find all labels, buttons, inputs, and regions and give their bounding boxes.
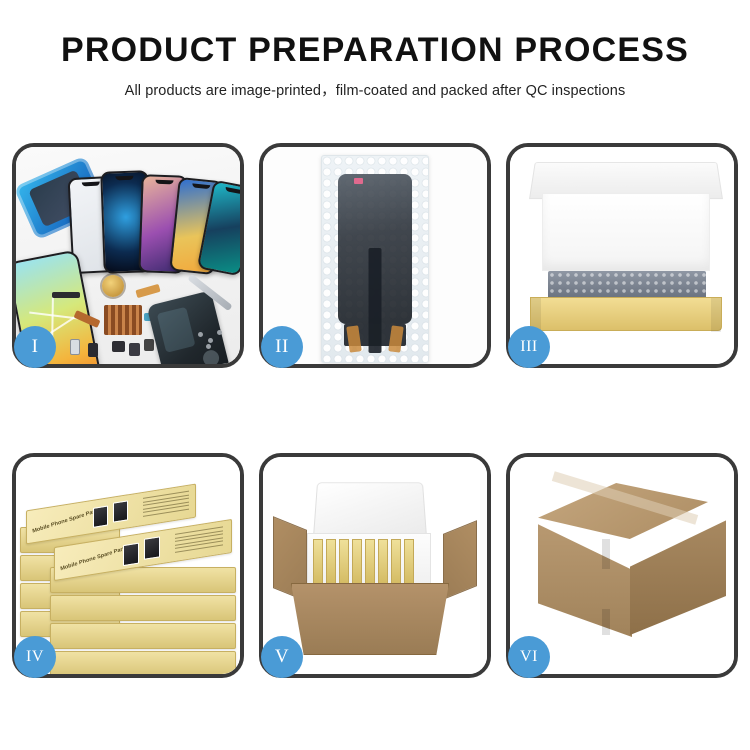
yellow-box xyxy=(391,539,401,585)
copper-coil-part xyxy=(102,275,124,297)
stacked-box xyxy=(50,651,236,674)
step-badge-3: III xyxy=(508,326,550,368)
yellow-box xyxy=(378,539,388,585)
adhesive-tab xyxy=(388,325,404,352)
bubble-wrap-bag xyxy=(321,155,429,363)
product-thumbnail xyxy=(93,505,108,527)
yellow-box xyxy=(326,539,336,585)
small-component-part xyxy=(88,343,98,357)
box-label-text: Mobile Phone Spare Parts xyxy=(32,508,100,535)
step-badge-1: I xyxy=(14,326,56,368)
yellow-box xyxy=(404,539,414,585)
stacked-box xyxy=(50,595,236,621)
yellow-box xyxy=(352,539,362,585)
header: PRODUCT PREPARATION PROCESS All products… xyxy=(0,0,750,100)
product-thumbnail xyxy=(144,536,160,560)
process-steps-grid: I II xyxy=(12,143,738,678)
qc-sticker xyxy=(354,178,363,184)
small-component-part xyxy=(144,339,154,351)
small-component-part xyxy=(129,343,140,356)
product-thumbnail xyxy=(123,543,139,567)
box-spec-lines xyxy=(175,526,223,555)
step-panel-5: V xyxy=(259,453,491,678)
page-subtitle: All products are image-printed，film-coat… xyxy=(0,79,750,100)
carton-front-panel xyxy=(291,583,449,655)
notch-icon xyxy=(155,180,173,185)
phone-screen-fan xyxy=(68,163,240,273)
yellow-boxes-row xyxy=(313,539,425,585)
screws-group xyxy=(198,330,224,348)
box-label-text: Mobile Phone Spare Parts xyxy=(60,545,128,572)
notch-icon xyxy=(225,187,240,194)
step-panel-3: III xyxy=(506,143,738,368)
page-title: PRODUCT PREPARATION PROCESS xyxy=(0,33,750,69)
foam-box-lid xyxy=(313,482,427,540)
kraft-box-tray xyxy=(530,297,722,331)
step-panel-4: Mobile Phone Spare Parts Mobile Phone Sp… xyxy=(12,453,244,678)
screw-icon xyxy=(208,338,213,343)
step-panel-1: I xyxy=(12,143,244,368)
stacked-box xyxy=(50,623,236,649)
step-panel-6: VI xyxy=(506,453,738,678)
notch-icon xyxy=(115,176,133,181)
product-preparation-process-page: PRODUCT PREPARATION PROCESS All products… xyxy=(0,0,750,750)
yellow-box xyxy=(339,539,349,585)
notch-icon xyxy=(81,182,99,187)
step-badge-2: II xyxy=(261,326,303,368)
screw-icon xyxy=(206,344,211,349)
carton-seam xyxy=(602,539,610,569)
sim-tray-part xyxy=(70,339,80,355)
step-badge-4: IV xyxy=(14,636,56,678)
notch-icon xyxy=(192,183,210,189)
step-badge-6: VI xyxy=(508,636,550,678)
box-spec-lines xyxy=(143,491,189,519)
flex-cable-part xyxy=(135,284,160,298)
box-stack: Mobile Phone Spare Parts Mobile Phone Sp… xyxy=(20,471,236,667)
step-badge-5: V xyxy=(261,636,303,678)
screw-icon xyxy=(198,332,203,337)
foam-padding xyxy=(542,193,710,271)
yellow-box xyxy=(365,539,375,585)
small-component-part xyxy=(112,341,125,352)
connector-bar-part xyxy=(52,292,80,298)
step-panel-2: II xyxy=(259,143,491,368)
yellow-box xyxy=(313,539,323,585)
chip-grid-part xyxy=(104,305,142,335)
product-thumbnail xyxy=(113,500,128,522)
screw-icon xyxy=(217,330,222,335)
carton-seam xyxy=(602,609,610,635)
